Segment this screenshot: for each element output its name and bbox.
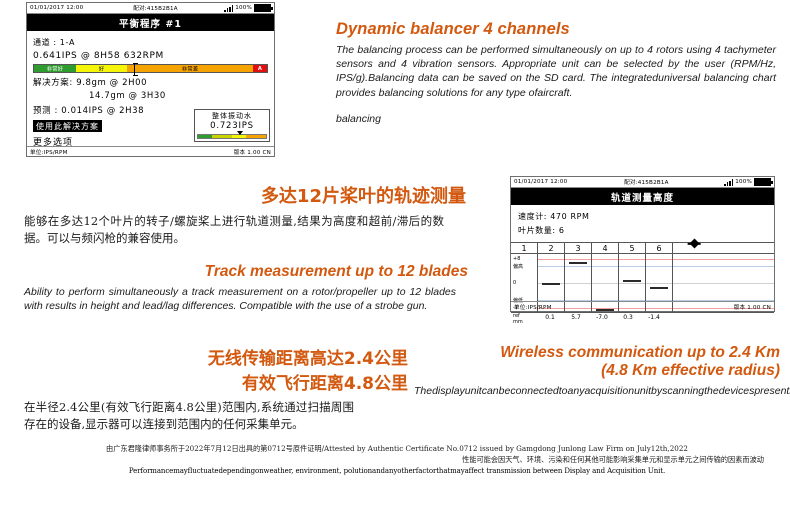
- wireless-heading-en-line2: (4.8 Km effective radius): [414, 362, 780, 380]
- signal-strength-icon: [224, 5, 233, 12]
- balancer-caption: balancing: [336, 112, 780, 126]
- track-col-header-5: 5: [619, 243, 646, 253]
- track-value-2: 0.1: [537, 314, 563, 321]
- vibration-reading-line: 0.641IPS @ 8H58 632RPM: [33, 51, 268, 61]
- track-table-header: 1 2 3 4 5 6: [511, 243, 774, 254]
- battery-icon: [254, 4, 271, 12]
- track-heading-cn: 多达12片桨叶的轨迹测量: [24, 182, 484, 208]
- track-battery-percent-label: 100%: [735, 179, 752, 185]
- quality-seg-label-3: A: [253, 66, 267, 72]
- track-col-header-6: 6: [646, 243, 673, 253]
- wireless-heading-cn-line1: 无线传输距离高达2.4公里: [24, 344, 414, 369]
- track-footer-version-label: 版本 1.00 CN: [734, 303, 771, 311]
- apply-solution-button[interactable]: 使用此解决方案: [33, 120, 102, 132]
- track-value-5: 0.3: [615, 314, 641, 321]
- axis-label-top-text: 偏高: [513, 263, 523, 270]
- legal-line-3: Performancemayfluctuatedependingonweathe…: [30, 467, 764, 475]
- solution-label: 解决方案:: [33, 78, 73, 88]
- quality-seg-label-2: 非常差: [127, 65, 253, 72]
- track-col-header-1: 1: [511, 243, 538, 253]
- status-pairing-id: 配对:415B2B1A: [133, 4, 178, 12]
- overall-vibration-bar: [197, 134, 267, 139]
- track-footer-units-label: 单位:IPS/RPM: [514, 303, 552, 311]
- quality-bar-marker: [134, 63, 135, 76]
- wireless-heading-cn-line2: 有效飞行距离4.8公里: [24, 369, 414, 394]
- track-body-en: Ability to perform simultaneously a trac…: [24, 285, 456, 313]
- balancer-text-section: Dynamic balancer 4 channels The balancin…: [336, 20, 780, 126]
- balancer-device-screenshot: 01/01/2017 12:00 配对:415B2B1A 100% 平衡程序 #…: [26, 2, 275, 157]
- track-heading-en: Track measurement up to 12 blades: [24, 263, 484, 281]
- track-col-header-3: 3: [565, 243, 592, 253]
- solution-line-1: 9.8gm @ 2H00: [76, 78, 147, 88]
- wireless-en-section: Wireless communication up to 2.4 Km (4.8…: [414, 344, 780, 398]
- overall-vibration-title: 整体振动水: [197, 111, 267, 121]
- track-value-4: -7.0: [589, 314, 615, 321]
- track-device-screenshot: 01/01/2017 12:00 配对:415B2B1A 100% 轨道测量高度…: [510, 176, 775, 312]
- wireless-heading-en-line1: Wireless communication up to 2.4 Km: [414, 344, 780, 362]
- solution-line-2: 14.7gm @ 3H30: [33, 91, 268, 101]
- track-value-3: 5.7: [563, 314, 589, 321]
- overall-vibration-box: 整体振动水 0.723IPS: [194, 109, 270, 142]
- track-value-6: -1.4: [641, 314, 667, 321]
- device-status-bar: 01/01/2017 12:00 配对:415B2B1A 100%: [27, 3, 274, 14]
- balancer-screen-title: 平衡程序 #1: [27, 14, 274, 31]
- footer-version-label: 版本 1.00 CN: [234, 148, 271, 156]
- tachometer-line: 速度计: 470 RPM: [518, 211, 767, 222]
- track-status-pairing-id: 配对:415B2B1A: [624, 178, 669, 186]
- legal-line-2: 性能可能会因天气、环境、污染和任何其他可能影响采集单元和显示单元之间传输的因素而…: [30, 454, 764, 465]
- track-screen-title: 轨道测量高度: [511, 188, 774, 205]
- quality-seg-label-0: 非常好: [34, 65, 76, 72]
- overall-vibration-value: 0.723IPS: [197, 121, 267, 131]
- balancer-body-text: The balancing process can be performed s…: [336, 43, 776, 100]
- legal-line-1: 由广东君隆律师事务所于2022年7月12日出具的第0712号原件证明/Attes…: [30, 443, 764, 454]
- axis-label-zero: 0: [513, 280, 516, 286]
- track-col-header-2: 2: [538, 243, 565, 253]
- footer-units-label: 单位:IPS/RPM: [30, 148, 68, 156]
- track-unit-label-2: mm: [513, 320, 537, 326]
- channel-line: 通道 : 1-A: [33, 37, 268, 48]
- track-col-header-4: 4: [592, 243, 619, 253]
- track-value-row: ref mm 0.1 5.7 -7.0 0.3 -1.4: [511, 313, 774, 325]
- legal-footer: 由广东君隆律师事务所于2022年7月12日出具的第0712号原件证明/Attes…: [30, 443, 764, 475]
- track-status-bar: 01/01/2017 12:00 配对:415B2B1A 100%: [511, 177, 774, 188]
- balancer-heading: Dynamic balancer 4 channels: [336, 20, 780, 39]
- track-status-datetime: 01/01/2017 12:00: [514, 179, 567, 185]
- track-signal-strength-icon: [724, 179, 733, 186]
- wireless-body-cn: 在半径2.4公里(有效飞行距离4.8公里)范围内,系统通过扫描周围存在的设备,显…: [24, 399, 354, 433]
- balance-quality-bar: 非常好 好 非常差 A: [33, 64, 268, 73]
- wireless-body-en: Thedisplayunitcanbeconnectedtoanyacquisi…: [414, 384, 774, 398]
- blade-count-line: 叶片数量: 6: [518, 225, 767, 236]
- wireless-cn-section: 无线传输距离高达2.4公里 有效飞行距离4.8公里 在半径2.4公里(有效飞行距…: [24, 344, 414, 433]
- track-battery-icon: [754, 178, 771, 186]
- track-body-cn: 能够在多达12个叶片的转子/螺旋桨上进行轨道测量,结果为高度和超前/滞后的数据。…: [24, 213, 444, 247]
- track-text-section: 多达12片桨叶的轨迹测量 能够在多达12个叶片的转子/螺旋桨上进行轨道测量,结果…: [24, 182, 484, 313]
- battery-percent-label: 100%: [235, 5, 252, 11]
- quality-seg-label-1: 好: [76, 65, 127, 72]
- device-footer-bar: 单位:IPS/RPM 版本 1.00 CN: [27, 146, 274, 156]
- track-footer-bar: 单位:IPS/RPM 版本 1.00 CN: [511, 301, 774, 311]
- status-datetime: 01/01/2017 12:00: [30, 5, 83, 11]
- overall-vibration-pointer: [237, 131, 243, 135]
- axis-label-top: +8: [513, 256, 520, 262]
